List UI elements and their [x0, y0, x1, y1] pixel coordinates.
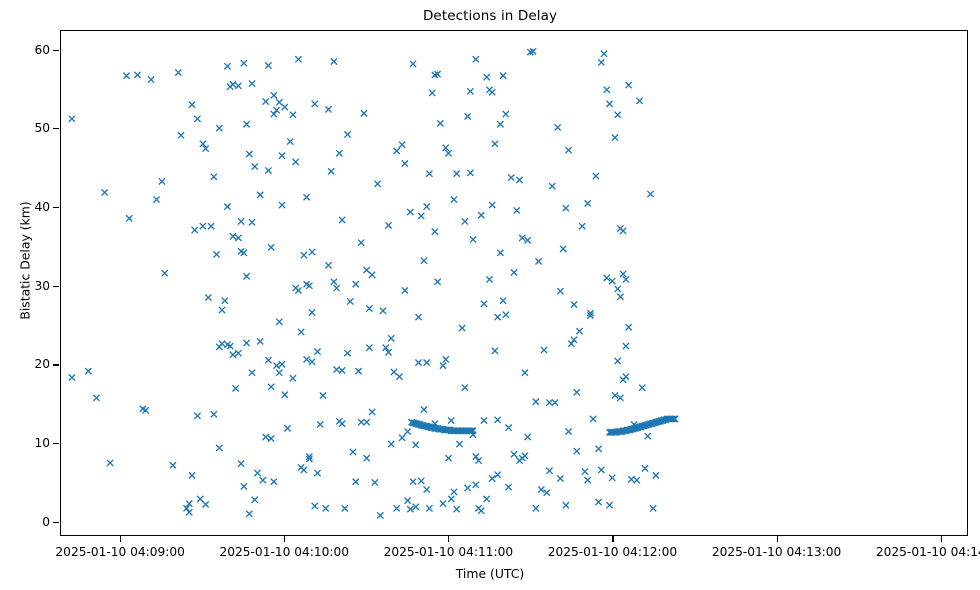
scatter-marker	[304, 194, 310, 200]
scatter-marker	[568, 341, 574, 347]
scatter-marker	[301, 252, 307, 258]
scatter-marker	[410, 61, 416, 67]
scatter-marker	[470, 236, 476, 242]
scatter-marker	[93, 395, 99, 401]
scatter-marker	[459, 325, 465, 331]
scatter-marker	[626, 324, 632, 330]
scatter-marker	[429, 90, 435, 96]
scatter-marker	[634, 477, 640, 483]
scatter-marker	[489, 89, 495, 95]
scatter-marker	[208, 223, 214, 229]
scatter-marker	[249, 370, 255, 376]
scatter-marker	[175, 69, 181, 75]
scatter-marker	[497, 121, 503, 127]
x-axis-label: Time (UTC)	[0, 566, 980, 581]
scatter-marker	[642, 465, 648, 471]
scatter-marker	[85, 368, 91, 374]
scatter-marker	[331, 58, 337, 64]
scatter-marker	[495, 472, 501, 478]
scatter-marker	[353, 479, 359, 485]
scatter-marker	[484, 74, 490, 80]
scatter-marker	[312, 101, 318, 107]
scatter-marker	[424, 486, 430, 492]
scatter-marker	[238, 461, 244, 467]
scatter-marker	[344, 350, 350, 356]
scatter-marker	[522, 453, 528, 459]
scatter-marker	[276, 370, 282, 376]
scatter-marker	[241, 60, 247, 66]
scatter-marker	[497, 250, 503, 256]
scatter-marker	[263, 98, 269, 104]
scatter-marker	[415, 359, 421, 365]
scatter-marker	[604, 275, 610, 281]
scatter-marker	[279, 202, 285, 208]
scatter-marker	[465, 485, 471, 491]
scatter-marker	[495, 417, 501, 423]
scatter-marker	[609, 278, 615, 284]
scatter-marker	[273, 107, 279, 113]
scatter-marker	[508, 174, 514, 180]
scatter-marker	[224, 63, 230, 69]
scatter-marker	[309, 249, 315, 255]
scatter-marker	[254, 470, 260, 476]
scatter-marker	[426, 505, 432, 511]
scatter-marker	[325, 106, 331, 112]
scatter-marker	[475, 457, 481, 463]
scatter-marker	[189, 472, 195, 478]
scatter-marker	[385, 222, 391, 228]
scatter-marker	[456, 441, 462, 447]
scatter-marker	[546, 468, 552, 474]
scatter-marker	[413, 442, 419, 448]
y-tick-mark	[53, 50, 59, 51]
scatter-marker	[552, 399, 558, 405]
scatter-marker	[579, 223, 585, 229]
scatter-marker	[235, 235, 241, 241]
scatter-marker	[170, 462, 176, 468]
scatter-marker	[268, 244, 274, 250]
scatter-marker	[522, 370, 528, 376]
scatter-marker	[374, 181, 380, 187]
scatter-marker	[407, 209, 413, 215]
scatter-marker	[178, 132, 184, 138]
scatter-marker	[243, 121, 249, 127]
scatter-marker	[380, 308, 386, 314]
x-tick-label: 2025-01-10 04:13:00	[712, 545, 841, 559]
scatter-marker	[347, 298, 353, 304]
scatter-marker	[606, 101, 612, 107]
scatter-marker	[448, 496, 454, 502]
scatter-marker	[434, 279, 440, 285]
scatter-marker	[219, 341, 225, 347]
scatter-marker	[219, 307, 225, 313]
scatter-marker	[615, 112, 621, 118]
scatter-marker	[102, 189, 108, 195]
scatter-marker	[432, 229, 438, 235]
scatter-marker	[481, 301, 487, 307]
scatter-marker	[639, 385, 645, 391]
scatter-marker	[366, 345, 372, 351]
scatter-marker	[489, 202, 495, 208]
scatter-marker	[465, 113, 471, 119]
scatter-marker	[418, 213, 424, 219]
scatter-marker	[525, 434, 531, 440]
scatter-marker	[585, 200, 591, 206]
scatter-marker	[364, 455, 370, 461]
scatter-marker	[227, 343, 233, 349]
scatter-marker	[235, 83, 241, 89]
scatter-marker	[235, 350, 241, 356]
y-tick-mark	[53, 522, 59, 523]
scatter-marker	[489, 475, 495, 481]
scatter-marker	[541, 347, 547, 353]
scatter-marker	[123, 73, 129, 79]
scatter-marker	[69, 116, 75, 122]
scatter-marker	[249, 80, 255, 86]
scatter-marker	[344, 131, 350, 137]
scatter-marker	[604, 87, 610, 93]
scatter-marker	[473, 482, 479, 488]
scatter-marker	[265, 62, 271, 68]
scatter-marker	[282, 392, 288, 398]
scatter-marker	[233, 385, 239, 391]
scatter-marker	[369, 272, 375, 278]
scatter-marker	[574, 448, 580, 454]
scatter-marker	[186, 509, 192, 515]
scatter-marker	[295, 287, 301, 293]
scatter-marker	[339, 367, 345, 373]
scatter-marker	[287, 138, 293, 144]
chart-figure: Detections in Delay 0102030405060 2025-0…	[0, 0, 980, 590]
scatter-marker	[421, 407, 427, 413]
scatter-marker	[574, 389, 580, 395]
scatter-marker	[653, 472, 659, 478]
scatter-marker	[399, 435, 405, 441]
scatter-marker	[153, 196, 159, 202]
scatter-marker	[246, 151, 252, 157]
scatter-marker	[216, 125, 222, 131]
scatter-marker	[361, 110, 367, 116]
scatter-marker	[238, 218, 244, 224]
scatter-marker	[612, 135, 618, 141]
scatter-marker	[421, 258, 427, 264]
scatter-marker	[358, 419, 364, 425]
scatter-marker	[230, 81, 236, 87]
scatter-points-layer	[61, 31, 967, 535]
scatter-marker	[404, 428, 410, 434]
x-tick-label: 2025-01-10 04:10:00	[220, 545, 349, 559]
scatter-marker	[298, 329, 304, 335]
scatter-marker	[478, 212, 484, 218]
scatter-marker	[241, 483, 247, 489]
scatter-marker	[557, 288, 563, 294]
scatter-marker	[576, 328, 582, 334]
scatter-marker	[535, 258, 541, 264]
scatter-marker	[366, 305, 372, 311]
scatter-marker	[394, 148, 400, 154]
scatter-marker	[585, 477, 591, 483]
scatter-marker	[481, 417, 487, 423]
scatter-marker	[402, 287, 408, 293]
scatter-marker	[628, 476, 634, 482]
scatter-marker	[451, 196, 457, 202]
scatter-marker	[454, 506, 460, 512]
y-tick-mark	[53, 128, 59, 129]
y-tick-mark	[53, 443, 59, 444]
scatter-marker	[623, 343, 629, 349]
scatter-marker	[334, 367, 340, 373]
scatter-marker	[309, 309, 315, 315]
scatter-marker	[418, 478, 424, 484]
scatter-marker	[211, 174, 217, 180]
scatter-marker	[284, 425, 290, 431]
scatter-marker	[290, 112, 296, 118]
scatter-marker	[189, 102, 195, 108]
scatter-marker	[440, 363, 446, 369]
scatter-marker	[486, 276, 492, 282]
x-tick-mark	[284, 536, 285, 542]
scatter-marker	[549, 183, 555, 189]
scatter-marker	[192, 227, 198, 233]
scatter-marker	[312, 503, 318, 509]
x-tick-label: 2025-01-10 04:09:00	[55, 545, 184, 559]
scatter-marker	[252, 497, 258, 503]
scatter-marker	[424, 359, 430, 365]
scatter-marker	[650, 505, 656, 511]
scatter-marker	[143, 407, 149, 413]
scatter-marker	[203, 501, 209, 507]
scatter-marker	[306, 283, 312, 289]
scatter-marker	[538, 486, 544, 492]
scatter-marker	[451, 489, 457, 495]
scatter-marker	[159, 178, 165, 184]
scatter-marker	[426, 171, 432, 177]
scatter-marker	[598, 467, 604, 473]
scatter-marker	[314, 348, 320, 354]
scatter-marker	[268, 384, 274, 390]
scatter-marker	[394, 505, 400, 511]
scatter-marker	[505, 425, 511, 431]
x-axis-tick-marks	[60, 536, 968, 544]
scatter-marker	[290, 375, 296, 381]
scatter-marker	[492, 141, 498, 147]
scatter-marker	[194, 413, 200, 419]
scatter-marker	[402, 160, 408, 166]
scatter-marker	[271, 92, 277, 98]
scatter-marker	[265, 357, 271, 363]
scatter-marker	[334, 285, 340, 291]
scatter-marker	[388, 335, 394, 341]
x-tick-mark	[448, 536, 449, 542]
scatter-marker	[301, 467, 307, 473]
scatter-marker	[415, 314, 421, 320]
scatter-marker	[268, 436, 274, 442]
scatter-marker	[273, 363, 279, 369]
scatter-marker	[565, 428, 571, 434]
scatter-marker	[107, 460, 113, 466]
scatter-marker	[320, 392, 326, 398]
x-tick-mark	[120, 536, 121, 542]
scatter-marker	[596, 446, 602, 452]
scatter-marker	[533, 505, 539, 511]
scatter-marker	[609, 475, 615, 481]
y-axis-label: Bistatic Delay (km)	[18, 131, 33, 391]
scatter-marker	[194, 116, 200, 122]
scatter-marker	[126, 215, 132, 221]
scatter-marker	[377, 512, 383, 518]
scatter-marker	[293, 159, 299, 165]
scatter-marker	[503, 111, 509, 117]
scatter-marker	[484, 496, 490, 502]
scatter-marker	[336, 150, 342, 156]
scatter-marker	[615, 358, 621, 364]
scatter-marker	[478, 508, 484, 514]
x-tick-label: 2025-01-10 04:12:00	[548, 545, 677, 559]
scatter-marker	[437, 120, 443, 126]
scatter-marker	[582, 468, 588, 474]
scatter-marker	[424, 203, 430, 209]
scatter-marker	[467, 88, 473, 94]
scatter-marker	[369, 409, 375, 415]
x-tick-label: 2025-01-10 04:11:00	[384, 545, 513, 559]
scatter-marker	[353, 281, 359, 287]
scatter-marker	[279, 361, 285, 367]
scatter-marker	[200, 223, 206, 229]
scatter-marker	[404, 497, 410, 503]
scatter-marker	[243, 340, 249, 346]
scatter-marker	[511, 451, 517, 457]
scatter-marker	[445, 455, 451, 461]
scatter-marker	[260, 477, 266, 483]
y-tick-mark	[53, 207, 59, 208]
scatter-marker	[546, 399, 552, 405]
scatter-marker	[601, 51, 607, 57]
scatter-marker	[134, 72, 140, 78]
y-tick-mark	[53, 364, 59, 365]
scatter-marker	[410, 479, 416, 485]
scatter-marker	[533, 399, 539, 405]
scatter-marker	[563, 205, 569, 211]
scatter-marker	[555, 124, 561, 130]
scatter-marker	[636, 98, 642, 104]
scatter-marker	[388, 441, 394, 447]
scatter-marker	[590, 416, 596, 422]
y-tick-mark	[53, 286, 59, 287]
scatter-marker	[317, 421, 323, 427]
scatter-marker	[243, 273, 249, 279]
scatter-marker	[230, 352, 236, 358]
scatter-marker	[279, 153, 285, 159]
scatter-marker	[350, 449, 356, 455]
scatter-marker	[557, 475, 563, 481]
x-tick-mark	[941, 536, 942, 542]
scatter-marker	[623, 374, 629, 380]
scatter-marker	[211, 411, 217, 417]
scatter-marker	[396, 374, 402, 380]
scatter-marker	[148, 77, 154, 83]
scatter-marker	[252, 164, 258, 170]
scatter-marker	[563, 502, 569, 508]
scatter-marker	[626, 82, 632, 88]
scatter-marker	[222, 298, 228, 304]
scatter-marker	[448, 417, 454, 423]
scatter-marker	[271, 111, 277, 117]
plot-area	[60, 30, 968, 536]
scatter-marker	[257, 338, 263, 344]
scatter-marker	[647, 191, 653, 197]
scatter-marker	[606, 502, 612, 508]
scatter-marker	[358, 240, 364, 246]
scatter-marker	[257, 192, 263, 198]
scatter-marker	[241, 250, 247, 256]
scatter-marker	[503, 312, 509, 318]
scatter-marker	[598, 59, 604, 65]
scatter-marker	[276, 319, 282, 325]
scatter-marker	[505, 484, 511, 490]
scatter-marker	[69, 374, 75, 380]
scatter-marker	[314, 470, 320, 476]
scatter-marker	[544, 490, 550, 496]
scatter-marker	[399, 142, 405, 148]
scatter-marker	[514, 207, 520, 213]
scatter-marker	[364, 419, 370, 425]
scatter-marker	[355, 368, 361, 374]
scatter-marker	[596, 499, 602, 505]
scatter-marker	[328, 168, 334, 174]
scatter-marker	[462, 385, 468, 391]
scatter-marker	[473, 454, 479, 460]
scatter-marker	[205, 294, 211, 300]
scatter-marker	[230, 233, 236, 239]
scatter-marker	[565, 147, 571, 153]
chart-title: Detections in Delay	[0, 8, 980, 24]
scatter-marker	[617, 294, 623, 300]
scatter-marker	[295, 56, 301, 62]
scatter-marker	[162, 270, 168, 276]
scatter-marker	[282, 104, 288, 110]
scatter-marker	[372, 479, 378, 485]
scatter-marker	[331, 279, 337, 285]
scatter-marker	[620, 228, 626, 234]
scatter-marker	[339, 421, 345, 427]
scatter-marker	[440, 501, 446, 507]
scatter-marker	[197, 496, 203, 502]
scatter-marker	[265, 167, 271, 173]
scatter-marker	[560, 246, 566, 252]
scatter-marker	[246, 511, 252, 517]
scatter-marker	[492, 348, 498, 354]
scatter-marker	[216, 445, 222, 451]
scatter-marker	[571, 301, 577, 307]
scatter-marker	[500, 298, 506, 304]
scatter-marker	[500, 73, 506, 79]
scatter-marker	[271, 479, 277, 485]
scatter-marker	[454, 171, 460, 177]
scatter-marker	[339, 217, 345, 223]
scatter-marker	[593, 173, 599, 179]
scatter-marker	[511, 269, 517, 275]
scatter-marker	[342, 505, 348, 511]
scatter-marker	[224, 203, 230, 209]
scatter-marker	[516, 177, 522, 183]
scatter-marker	[249, 219, 255, 225]
scatter-marker	[443, 356, 449, 362]
x-axis-tick-labels: 2025-01-10 04:09:002025-01-10 04:10:0020…	[0, 545, 980, 565]
scatter-marker	[325, 262, 331, 268]
scatter-marker	[323, 505, 329, 511]
scatter-marker	[615, 286, 621, 292]
scatter-marker	[645, 433, 651, 439]
